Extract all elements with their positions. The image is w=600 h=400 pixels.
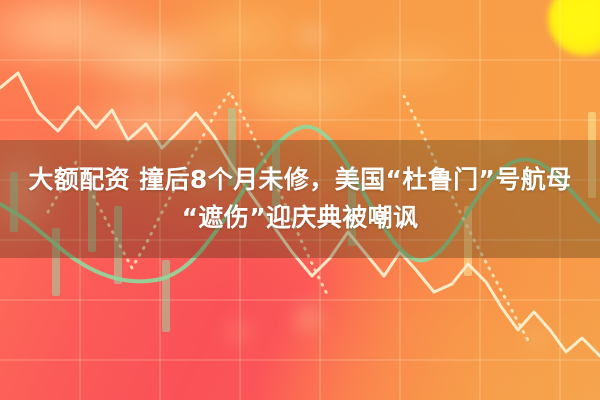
promo-banner: 大额配资 撞后8个月未修，美国“杜鲁门”号航母 “遮伤”迎庆典被嘲讽 — [0, 0, 600, 400]
headline-line-2: “遮伤”迎庆典被嘲讽 — [182, 202, 419, 234]
candlestick-bar — [162, 260, 170, 332]
headline-block: 大额配资 撞后8个月未修，美国“杜鲁门”号航母 “遮伤”迎庆典被嘲讽 — [0, 140, 600, 258]
headline-line-1: 大额配资 撞后8个月未修，美国“杜鲁门”号航母 — [28, 164, 571, 196]
